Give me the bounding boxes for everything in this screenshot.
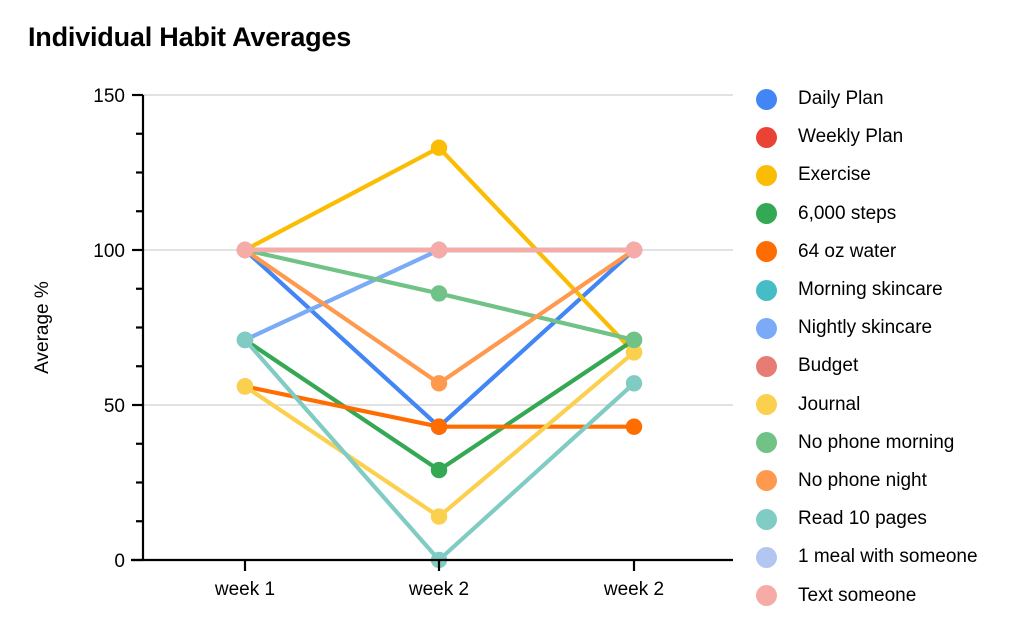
x-tick-label: week 2 (408, 579, 469, 600)
legend-item[interactable]: Text someone (756, 576, 1024, 614)
legend-item-label: 1 meal with someone (798, 546, 978, 568)
data-point (431, 242, 447, 258)
legend-swatch-icon (756, 165, 777, 186)
legend-swatch-icon (756, 356, 777, 377)
legend-item-label: No phone night (798, 470, 927, 492)
series-layer (237, 140, 642, 569)
series-read-10-pages (237, 332, 642, 569)
chart-legend: Daily PlanWeekly PlanExercise6,000 steps… (756, 80, 1024, 615)
series-line (245, 340, 634, 560)
legend-item[interactable]: 1 meal with someone (756, 538, 1024, 576)
gridlines (143, 95, 733, 560)
legend-item-label: Journal (798, 394, 860, 416)
data-point (237, 378, 253, 394)
legend-item-label: Budget (798, 355, 858, 377)
legend-item[interactable]: No phone night (756, 462, 1024, 500)
series-daily-plan (237, 242, 642, 435)
data-point (431, 375, 447, 391)
legend-item[interactable]: Journal (756, 386, 1024, 424)
legend-item-label: Weekly Plan (798, 126, 903, 148)
legend-item-label: 64 oz water (798, 241, 896, 263)
series-text-someone (237, 242, 642, 258)
x-tick-label: week 1 (214, 579, 275, 600)
legend-swatch-icon (756, 547, 777, 568)
data-point (431, 419, 447, 435)
legend-item[interactable]: No phone morning (756, 424, 1024, 462)
legend-swatch-icon (756, 318, 777, 339)
legend-item-label: No phone morning (798, 432, 954, 454)
legend-item[interactable]: Morning skincare (756, 271, 1024, 309)
data-point (431, 462, 447, 478)
legend-item[interactable]: 64 oz water (756, 233, 1024, 271)
legend-item[interactable]: Weekly Plan (756, 118, 1024, 156)
data-point (431, 140, 447, 156)
legend-swatch-icon (756, 509, 777, 530)
data-point (626, 242, 642, 258)
data-point (237, 242, 253, 258)
chart-container: Individual Habit Averages 050100150week … (0, 0, 1024, 633)
legend-item-label: Morning skincare (798, 279, 943, 301)
series-line (245, 250, 634, 383)
legend-item-label: Nightly skincare (798, 317, 932, 339)
data-point (626, 419, 642, 435)
data-point (431, 285, 447, 301)
legend-item-label: 6,000 steps (798, 203, 896, 225)
legend-swatch-icon (756, 470, 777, 491)
legend-item[interactable]: Daily Plan (756, 80, 1024, 118)
legend-swatch-icon (756, 394, 777, 415)
legend-swatch-icon (756, 241, 777, 262)
legend-item[interactable]: Exercise (756, 156, 1024, 194)
y-tick-label: 150 (93, 86, 125, 107)
data-point (626, 375, 642, 391)
legend-item-label: Daily Plan (798, 88, 884, 110)
legend-item-label: Text someone (798, 585, 916, 607)
axes-layer (131, 95, 733, 571)
x-tick-label: week 2 (603, 579, 664, 600)
legend-swatch-icon (756, 127, 777, 148)
legend-item[interactable]: Budget (756, 347, 1024, 385)
y-tick-label: 0 (114, 551, 125, 572)
legend-swatch-icon (756, 432, 777, 453)
legend-item[interactable]: 6,000 steps (756, 195, 1024, 233)
data-point (431, 508, 447, 524)
legend-item-label: Exercise (798, 164, 871, 186)
legend-swatch-icon (756, 89, 777, 110)
legend-swatch-icon (756, 585, 777, 606)
legend-swatch-icon (756, 203, 777, 224)
legend-swatch-icon (756, 280, 777, 301)
data-point (626, 332, 642, 348)
legend-item-label: Read 10 pages (798, 508, 927, 530)
legend-item[interactable]: Nightly skincare (756, 309, 1024, 347)
y-tick-label: 50 (104, 396, 125, 417)
data-point (237, 332, 253, 348)
legend-item[interactable]: Read 10 pages (756, 500, 1024, 538)
y-axis-title: Average % (32, 281, 53, 374)
y-tick-label: 100 (93, 241, 125, 262)
